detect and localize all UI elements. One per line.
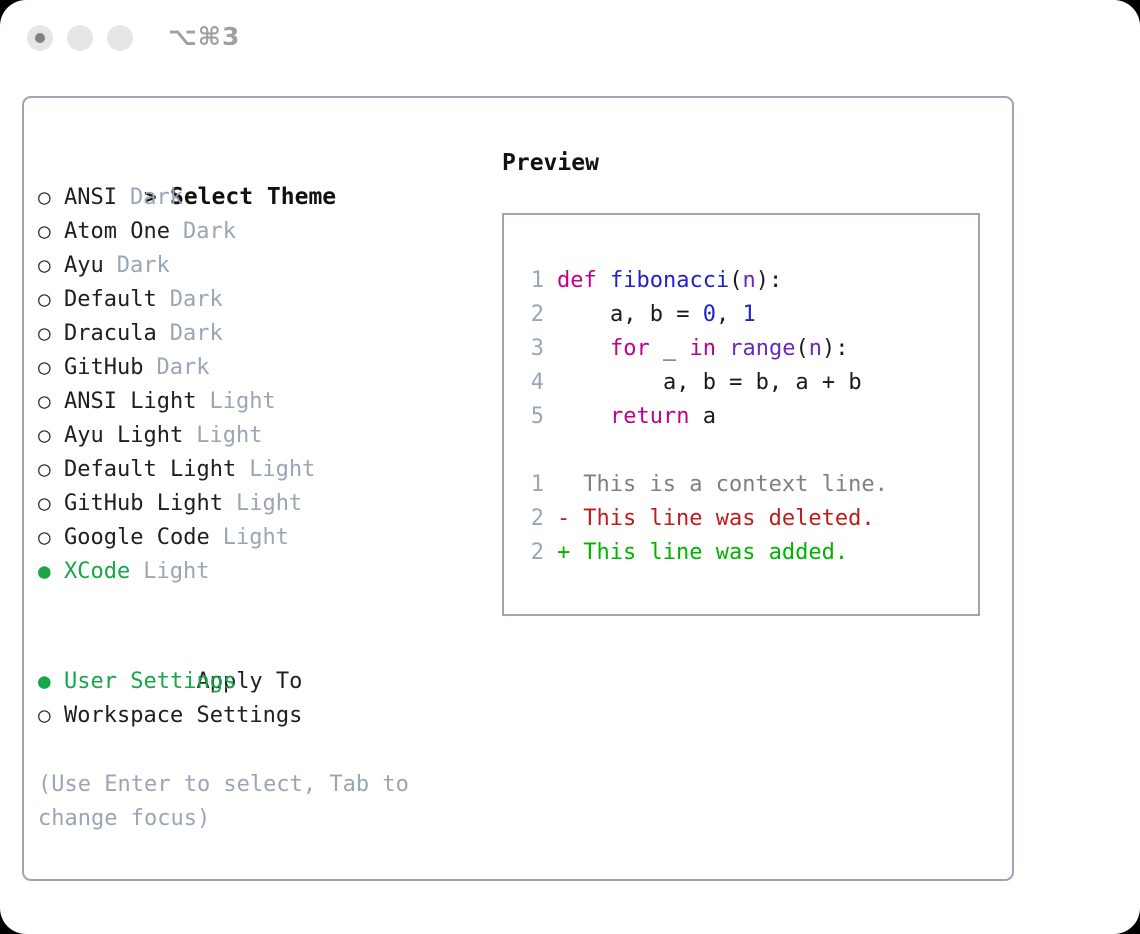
- code-token: for: [610, 336, 650, 361]
- spacer: [104, 249, 117, 283]
- theme-list-item[interactable]: ○ANSI Light Light: [38, 384, 478, 418]
- code-token: ):: [756, 268, 783, 293]
- theme-category: Dark: [170, 321, 223, 346]
- window-control-minimize[interactable]: [67, 25, 93, 51]
- theme-category: Dark: [130, 185, 183, 210]
- gutter-gap: [544, 298, 557, 332]
- diff-line: 2 - This line was deleted.: [518, 502, 972, 536]
- diff-sign: -: [557, 506, 570, 531]
- theme-list-item[interactable]: ○Ayu Light Light: [38, 418, 478, 452]
- code-token: ,: [716, 302, 743, 327]
- line-number: 2: [518, 536, 544, 570]
- apply-to-item[interactable]: ○Workspace Settings: [38, 698, 478, 732]
- line-number: 5: [518, 400, 544, 434]
- spacer: [157, 283, 170, 317]
- gutter-gap: [544, 468, 557, 502]
- diff-sign: +: [557, 540, 570, 565]
- code-token: in: [689, 336, 716, 361]
- theme-name: GitHub Light: [64, 491, 223, 516]
- diff-text: This is a context line.: [583, 472, 888, 497]
- theme-list-item[interactable]: ○GitHub Light Light: [38, 486, 478, 520]
- code-token: return: [610, 404, 689, 429]
- window-control-close[interactable]: [27, 25, 53, 51]
- theme-category: Dark: [117, 253, 170, 278]
- line-number: 4: [518, 366, 544, 400]
- code-token: [716, 336, 729, 361]
- code-token: [557, 336, 610, 361]
- radio-unselected-icon: ○: [38, 248, 64, 282]
- theme-category: Light: [143, 559, 209, 584]
- radio-unselected-icon: ○: [38, 214, 64, 248]
- theme-category: Dark: [156, 355, 209, 380]
- preview-title: Preview: [502, 146, 992, 180]
- radio-unselected-icon: ○: [38, 316, 64, 350]
- theme-name: XCode: [64, 559, 130, 584]
- spacer: [130, 555, 143, 589]
- diff-text: This line was deleted.: [583, 506, 874, 531]
- theme-list-item[interactable]: ○Google Code Light: [38, 520, 478, 554]
- theme-name: Google Code: [64, 525, 210, 550]
- code-token: _: [650, 336, 690, 361]
- radio-unselected-icon: ○: [38, 180, 64, 214]
- line-number: 2: [518, 502, 544, 536]
- diff-text: This line was added.: [583, 540, 848, 565]
- line-number: 1: [518, 264, 544, 298]
- theme-list-item[interactable]: ○Dracula Dark: [38, 316, 478, 350]
- radio-unselected-icon: ○: [38, 520, 64, 554]
- radio-unselected-icon: ○: [38, 486, 64, 520]
- theme-list: ○ANSI Dark○Atom One Dark○Ayu Dark○Defaul…: [38, 180, 478, 588]
- code-token: (: [795, 336, 808, 361]
- theme-selector-column: >Select Theme ○ANSI Dark○Atom One Dark○A…: [38, 146, 478, 836]
- diff-gap: [570, 536, 583, 570]
- code-token: (: [729, 268, 742, 293]
- apply-to-label: User Settings: [64, 669, 236, 694]
- spacer: [196, 385, 209, 419]
- radio-unselected-icon: ○: [38, 452, 64, 486]
- radio-unselected-icon: ○: [38, 698, 64, 732]
- theme-name: ANSI Light: [64, 389, 196, 414]
- line-number: 1: [518, 468, 544, 502]
- apply-to-section: Apply To ●User Settings○Workspace Settin…: [38, 630, 478, 732]
- code-line: 5 return a: [518, 400, 972, 434]
- theme-list-item[interactable]: ○Default Dark: [38, 282, 478, 316]
- code-token: n: [809, 336, 822, 361]
- radio-selected-icon: ●: [38, 554, 64, 588]
- theme-name: ANSI: [64, 185, 117, 210]
- line-number: 2: [518, 298, 544, 332]
- code-token: fibonacci: [610, 268, 729, 293]
- diff-gap: [570, 502, 583, 536]
- radio-unselected-icon: ○: [38, 384, 64, 418]
- theme-category: Light: [209, 389, 275, 414]
- gutter-gap: [544, 502, 557, 536]
- code-token: [557, 404, 610, 429]
- theme-category: Dark: [170, 287, 223, 312]
- theme-name: Atom One: [64, 219, 170, 244]
- theme-category: Dark: [183, 219, 236, 244]
- theme-name: Ayu: [64, 253, 104, 278]
- code-line: 4 a, b = b, a + b: [518, 366, 972, 400]
- radio-unselected-icon: ○: [38, 418, 64, 452]
- line-number: 3: [518, 332, 544, 366]
- theme-name: Default Light: [64, 457, 236, 482]
- spacer: [236, 453, 249, 487]
- gutter-gap: [544, 536, 557, 570]
- diff-line: 1 This is a context line.: [518, 468, 972, 502]
- keyboard-hint-text: (Use Enter to select, Tab to change focu…: [38, 768, 448, 836]
- code-line: 1 def fibonacci(n):: [518, 264, 972, 298]
- spacer: [170, 215, 183, 249]
- gutter-gap: [544, 332, 557, 366]
- diff-sample: 1 This is a context line.2 - This line w…: [518, 468, 972, 570]
- apply-to-heading: Apply To: [38, 630, 478, 664]
- spacer: [143, 351, 156, 385]
- code-token: 0: [703, 302, 716, 327]
- diff-gap: [570, 468, 583, 502]
- theme-list-item[interactable]: ○Atom One Dark: [38, 214, 478, 248]
- code-line: 2 a, b = 0, 1: [518, 298, 972, 332]
- diff-line: 2 + This line was added.: [518, 536, 972, 570]
- theme-category: Light: [223, 525, 289, 550]
- theme-list-item[interactable]: ○Ayu Dark: [38, 248, 478, 282]
- radio-unselected-icon: ○: [38, 282, 64, 316]
- spacer: [210, 521, 223, 555]
- theme-name: Ayu Light: [64, 423, 183, 448]
- diff-sign: [557, 472, 570, 497]
- theme-name: Default: [64, 287, 157, 312]
- app-window: ⌥⌘3 >Select Theme ○ANSI Dark○Atom One Da…: [0, 0, 1140, 934]
- code-line: 3 for _ in range(n):: [518, 332, 972, 366]
- theme-list-item[interactable]: ○Default Light Light: [38, 452, 478, 486]
- spacer: [117, 181, 130, 215]
- spacer: [223, 487, 236, 521]
- keyboard-shortcut-label: ⌥⌘3: [168, 22, 240, 51]
- theme-category: Light: [196, 423, 262, 448]
- apply-to-label: Workspace Settings: [64, 703, 302, 728]
- code-token: n: [742, 268, 755, 293]
- theme-name: GitHub: [64, 355, 143, 380]
- code-token: a: [689, 404, 716, 429]
- select-theme-heading-label: Select Theme: [170, 184, 336, 210]
- code-token: 1: [742, 302, 755, 327]
- code-token: a, b = b, a + b: [557, 370, 862, 395]
- code-token: ):: [822, 336, 849, 361]
- preview-content: 1 def fibonacci(n):2 a, b = 0, 13 for _ …: [518, 264, 972, 570]
- gutter-gap: [544, 366, 557, 400]
- radio-selected-icon: ●: [38, 664, 64, 698]
- window-control-maximize[interactable]: [107, 25, 133, 51]
- code-token: def: [557, 268, 597, 293]
- code-sample: 1 def fibonacci(n):2 a, b = 0, 13 for _ …: [518, 264, 972, 434]
- title-bar: ⌥⌘3: [0, 0, 1140, 78]
- gutter-gap: [544, 264, 557, 298]
- theme-list-item[interactable]: ○GitHub Dark: [38, 350, 478, 384]
- code-token: range: [729, 336, 795, 361]
- gutter-gap: [544, 400, 557, 434]
- theme-name: Dracula: [64, 321, 157, 346]
- spacer: [183, 419, 196, 453]
- code-token: a, b =: [557, 302, 703, 327]
- spacer: [157, 317, 170, 351]
- radio-unselected-icon: ○: [38, 350, 64, 384]
- preview-column: Preview 1 def fibonacci(n):2 a, b = 0, 1…: [502, 146, 992, 616]
- theme-list-item[interactable]: ●XCode Light: [38, 554, 478, 588]
- code-token: [597, 268, 610, 293]
- main-panel: >Select Theme ○ANSI Dark○Atom One Dark○A…: [22, 96, 1014, 881]
- select-theme-heading: >Select Theme: [38, 146, 478, 180]
- theme-category: Light: [236, 491, 302, 516]
- theme-category: Light: [249, 457, 315, 482]
- preview-box: 1 def fibonacci(n):2 a, b = 0, 13 for _ …: [502, 213, 980, 616]
